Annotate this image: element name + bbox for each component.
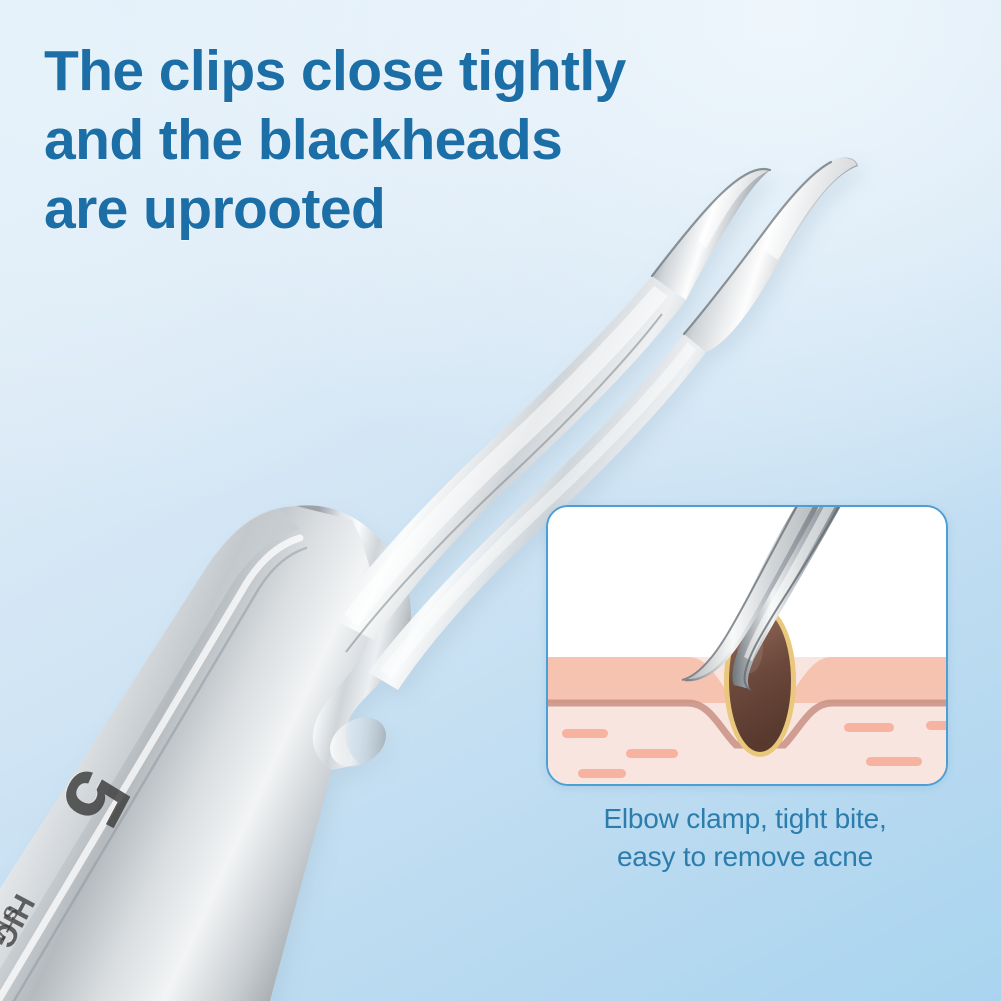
caption-line-1: Elbow clamp, tight bite,	[546, 800, 944, 838]
headline-line-1: The clips close tightly	[44, 37, 744, 106]
headline: The clips close tightly and the blackhea…	[44, 37, 744, 244]
inset-caption: Elbow clamp, tight bite, easy to remove …	[546, 800, 944, 876]
headline-line-2: and the blackheads	[44, 106, 744, 175]
skin-cross-section-illustration	[548, 507, 946, 784]
product-marketing-image: The clips close tightly and the blackhea…	[0, 0, 1001, 1001]
headline-line-3: are uprooted	[44, 175, 744, 244]
caption-line-2: easy to remove acne	[546, 838, 944, 876]
skin-cross-section-inset-panel	[546, 505, 948, 786]
